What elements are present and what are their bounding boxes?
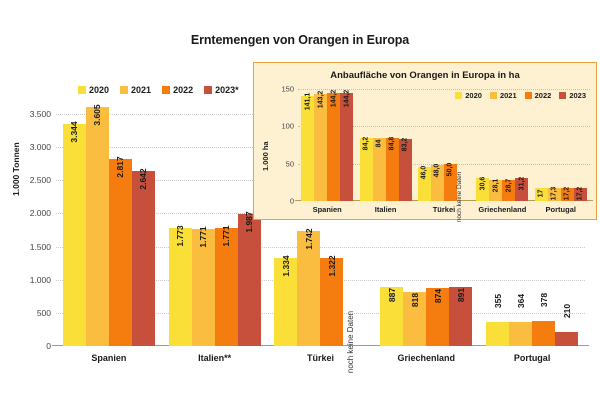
bar-value-label: 144,2 xyxy=(330,90,337,108)
bar-column[interactable]: 141,1 xyxy=(301,89,314,201)
bar-2021[interactable]: 1.742 xyxy=(297,231,320,346)
x-axis-category-label: Portugal xyxy=(533,205,588,214)
bar-value-label: 364 xyxy=(516,294,526,308)
bar-column[interactable]: 3.344 xyxy=(63,114,86,346)
bar-2021[interactable]: 28,1 xyxy=(489,180,502,201)
bar-column[interactable]: 143,2 xyxy=(314,89,327,201)
bar-value-label: 30,6 xyxy=(479,177,486,191)
bar-column[interactable]: 48,0 xyxy=(431,89,444,201)
bar-2023[interactable]: 17,2 xyxy=(574,188,587,201)
bar-column[interactable]: 1.773 xyxy=(169,114,192,346)
no-data-marker: noch keine Daten xyxy=(457,89,470,201)
bar-column[interactable]: 17,2 xyxy=(561,89,574,201)
x-axis-category-label: Griechenland xyxy=(475,205,530,214)
bar-column[interactable]: 30,6 xyxy=(476,89,489,201)
x-axis-category-label: Italien xyxy=(358,205,413,214)
bar-2022[interactable]: 2.817 xyxy=(109,159,132,346)
y-axis-tick-label: 3.000 xyxy=(30,142,51,152)
bar-2020[interactable]: 1.773 xyxy=(169,228,192,346)
bar-2021[interactable]: 48,0 xyxy=(431,165,444,201)
bar-column[interactable]: 17,3 xyxy=(548,89,561,201)
bar-value-label: 3.344 xyxy=(69,122,79,143)
legend-item-2022[interactable]: 2022 xyxy=(162,85,193,95)
bar-value-label: 378 xyxy=(539,293,549,307)
bar-column[interactable]: 144,2 xyxy=(327,89,340,201)
legend-item-2023[interactable]: 2023* xyxy=(204,85,239,95)
bar-value-label: 83,2 xyxy=(402,138,409,152)
bar-column[interactable]: 1.771 xyxy=(215,114,238,346)
bar-value-label: 48,0 xyxy=(434,164,441,178)
bar-group: 30,628,128,731,2Griechenland xyxy=(475,89,530,201)
y-axis-tick-label: 0 xyxy=(46,341,51,351)
x-axis-category-label: Griechenland xyxy=(376,353,477,363)
bar-2022[interactable]: 84,8 xyxy=(386,138,399,201)
bar-value-label: 84,8 xyxy=(389,136,396,150)
bar-value-label: 1.742 xyxy=(304,228,314,249)
main-legend: 2020202120222023* xyxy=(78,85,239,95)
bar-group: 84,28484,883,2Italien xyxy=(358,89,413,201)
bar-column[interactable]: 46,0 xyxy=(418,89,431,201)
bar-2020[interactable]: 1.334 xyxy=(274,258,297,346)
bar-value-label: 1.334 xyxy=(281,255,291,276)
bar-2023[interactable]: 1.987 xyxy=(238,214,261,346)
y-axis-tick-label: 150 xyxy=(281,85,294,94)
bar-2022[interactable]: 17,2 xyxy=(561,188,574,201)
bar-column[interactable]: 84,2 xyxy=(360,89,373,201)
bar-group: 1.7731.7711.7711.987Italien** xyxy=(164,114,265,346)
bar-column[interactable]: 1.771 xyxy=(192,114,215,346)
bar-value-label: 1.773 xyxy=(175,226,185,247)
y-axis-tick-label: 2.000 xyxy=(30,208,51,218)
legend-swatch-icon xyxy=(204,86,212,94)
x-axis-category-label: Spanien xyxy=(59,353,160,363)
bar-value-label: 887 xyxy=(387,288,397,302)
bar-2023[interactable]: 144,2 xyxy=(340,93,353,201)
bar-column[interactable]: 28,7 xyxy=(502,89,515,201)
main-y-axis-title: 1.000 Tonnen xyxy=(11,142,21,196)
bar-column[interactable]: 2.642 xyxy=(132,114,155,346)
bar-column[interactable]: 84 xyxy=(373,89,386,201)
bar-value-label: 891 xyxy=(456,288,466,302)
bar-value-label: 1.771 xyxy=(221,225,231,246)
bar-2021[interactable]: 17,3 xyxy=(548,188,561,201)
bar-value-label: 50,0 xyxy=(447,162,454,176)
y-axis-tick-label: 1.000 xyxy=(30,275,51,285)
bar-column[interactable]: 2.817 xyxy=(109,114,132,346)
page-title: Erntemengen von Orangen in Europa xyxy=(0,33,600,47)
bar-2021[interactable]: 3.605 xyxy=(86,107,109,346)
bar-column[interactable]: 17,2 xyxy=(574,89,587,201)
bar-value-label: 355 xyxy=(493,294,503,308)
bar-2021[interactable]: 364 xyxy=(509,322,532,346)
bar-value-label: 17,2 xyxy=(564,187,571,201)
bar-2020[interactable]: 3.344 xyxy=(63,124,86,346)
x-axis-category-label: Spanien xyxy=(299,205,354,214)
bar-column[interactable]: 3.605 xyxy=(86,114,109,346)
bar-value-label: 84,2 xyxy=(363,137,370,151)
bar-value-label: 28,1 xyxy=(492,179,499,193)
inset-title: Anbaufläche von Orangen in Europa in ha xyxy=(254,70,596,81)
legend-item-2021[interactable]: 2021 xyxy=(120,85,151,95)
bar-group: 1717,317,217,2Portugal xyxy=(533,89,588,201)
bar-value-label: 17,3 xyxy=(551,187,558,201)
bar-2023[interactable]: 891 xyxy=(449,287,472,346)
bar-2023[interactable]: 210 xyxy=(555,332,578,346)
no-data-label: noch keine Daten xyxy=(456,172,463,223)
y-axis-tick-label: 50 xyxy=(286,159,294,168)
bar-2022[interactable]: 1.771 xyxy=(215,228,238,346)
bar-2020[interactable]: 30,6 xyxy=(476,178,489,201)
x-axis-category-label: Türkei xyxy=(270,353,371,363)
legend-label: 2023* xyxy=(215,85,239,95)
x-axis-category-label: Portugal xyxy=(482,353,583,363)
bar-value-label: 3.605 xyxy=(92,104,102,125)
inset-panel: Anbaufläche von Orangen in Europa in ha … xyxy=(253,62,597,220)
legend-label: 2022 xyxy=(173,85,193,95)
y-axis-tick-label: 0 xyxy=(290,197,294,206)
bar-2023[interactable]: 31,2 xyxy=(515,178,528,201)
bar-column[interactable]: 83,2 xyxy=(399,89,412,201)
bar-value-label: 46,0 xyxy=(421,165,428,179)
bar-column[interactable]: 31,2 xyxy=(515,89,528,201)
bar-2022[interactable]: 1.322 xyxy=(320,258,343,346)
y-axis-tick-label: 2.500 xyxy=(30,175,51,185)
x-axis-category-label: Italien** xyxy=(164,353,265,363)
bar-2020[interactable]: 141,1 xyxy=(301,96,314,201)
bar-group: 141,1143,2144,2144,2Spanien xyxy=(299,89,354,201)
bar-2021[interactable]: 818 xyxy=(403,292,426,346)
bar-2022[interactable]: 378 xyxy=(532,321,555,346)
bar-value-label: 874 xyxy=(433,289,443,303)
bar-value-label: 17 xyxy=(538,190,545,198)
bar-2020[interactable]: 17 xyxy=(535,188,548,201)
bar-2020[interactable]: 46,0 xyxy=(418,167,431,201)
bar-value-label: 84 xyxy=(376,140,383,148)
bar-group: 3.3443.6052.8172.642Spanien xyxy=(59,114,160,346)
legend-swatch-icon xyxy=(162,86,170,94)
bar-value-label: 1.322 xyxy=(327,256,337,277)
y-axis-tick-label: 100 xyxy=(281,122,294,131)
bar-column[interactable]: 17 xyxy=(535,89,548,201)
bar-value-label: 143,2 xyxy=(317,91,324,109)
bar-2020[interactable]: 887 xyxy=(380,287,403,346)
chart-root: Erntemengen von Orangen in Europa 202020… xyxy=(0,0,600,400)
bar-2021[interactable]: 84 xyxy=(373,138,386,201)
legend-swatch-icon xyxy=(78,86,86,94)
y-axis-tick-label: 1.500 xyxy=(30,242,51,252)
bar-column[interactable]: 28,1 xyxy=(489,89,502,201)
bar-2020[interactable]: 355 xyxy=(486,322,509,346)
legend-label: 2020 xyxy=(89,85,109,95)
bar-value-label: 2.817 xyxy=(115,157,125,178)
bar-groups: 141,1143,2144,2144,2Spanien84,28484,883,… xyxy=(298,89,590,201)
x-axis-category-label: Türkei xyxy=(416,205,471,214)
bar-value-label: 28,7 xyxy=(505,178,512,192)
bar-2022[interactable]: 28,7 xyxy=(502,180,515,201)
bar-value-label: 1.771 xyxy=(198,226,208,247)
bar-value-label: 144,2 xyxy=(343,90,350,108)
y-axis-tick-label: 3.500 xyxy=(30,109,51,119)
legend-label: 2021 xyxy=(131,85,151,95)
bar-2023[interactable]: 2.642 xyxy=(132,171,155,346)
bar-group: 46,048,050,0noch keine DatenTürkei xyxy=(416,89,471,201)
bar-column[interactable]: 84,8 xyxy=(386,89,399,201)
bar-value-label: 141,1 xyxy=(304,92,311,110)
legend-item-2020[interactable]: 2020 xyxy=(78,85,109,95)
bar-value-label: 818 xyxy=(410,293,420,307)
bar-2021[interactable]: 143,2 xyxy=(314,94,327,201)
bar-2022[interactable]: 874 xyxy=(426,288,449,346)
bar-value-label: 2.642 xyxy=(138,168,148,189)
bar-2022[interactable]: 144,2 xyxy=(327,93,340,201)
y-axis-tick-label: 500 xyxy=(37,308,51,318)
bar-column[interactable]: 144,2 xyxy=(340,89,353,201)
bar-2021[interactable]: 1.771 xyxy=(192,229,215,346)
no-data-label: noch keine Daten xyxy=(346,311,355,373)
bar-2020[interactable]: 84,2 xyxy=(360,138,373,201)
bar-value-label: 210 xyxy=(562,304,572,318)
bar-value-label: 17,2 xyxy=(577,187,584,201)
legend-swatch-icon xyxy=(120,86,128,94)
bar-2023[interactable]: 83,2 xyxy=(399,139,412,201)
inset-plot-area: 050100150141,1143,2144,2144,2Spanien84,2… xyxy=(298,89,590,201)
inset-y-axis-title: 1.000 ha xyxy=(261,141,270,171)
bar-value-label: 31,2 xyxy=(518,176,525,190)
